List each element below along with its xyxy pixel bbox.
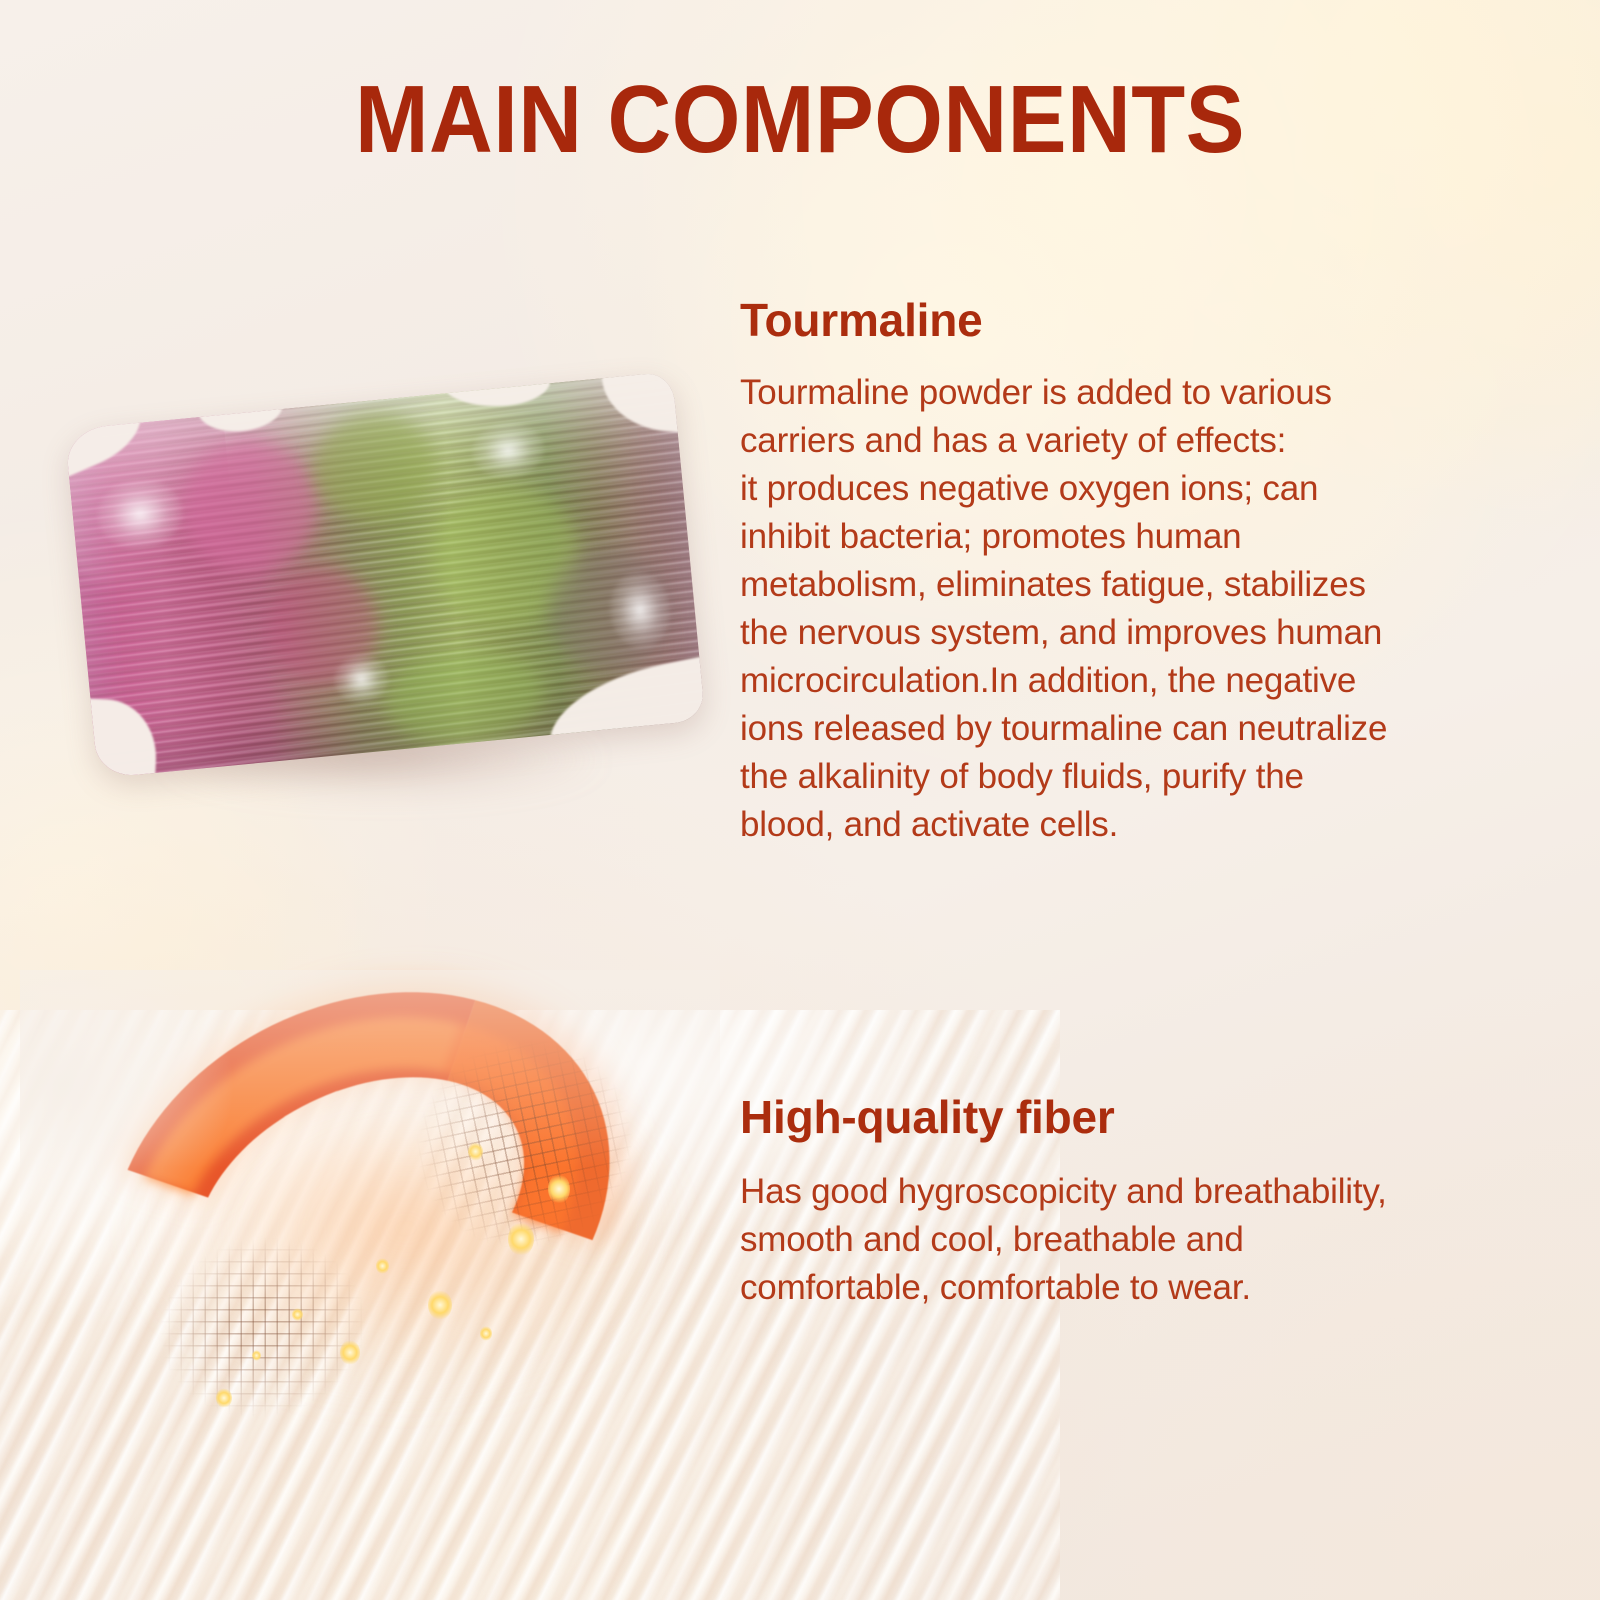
tourmaline-crystal-photo <box>60 370 740 870</box>
page-title: MAIN COMPONENTS <box>64 72 1536 168</box>
crystal-body <box>65 372 706 779</box>
fiber-spark <box>292 1308 303 1321</box>
fiber-spark <box>216 1388 232 1408</box>
fiber-spark <box>252 1350 261 1361</box>
section-tourmaline: Tourmaline Tourmaline powder is added to… <box>740 296 1570 849</box>
section-body-tourmaline: Tourmaline powder is added to various ca… <box>740 369 1570 849</box>
fiber-spark <box>468 1142 483 1161</box>
section-heading-tourmaline: Tourmaline <box>740 296 1570 345</box>
fiber-spark <box>376 1258 389 1274</box>
section-heading-fiber: High-quality fiber <box>740 1093 1570 1142</box>
section-body-fiber: Has good hygroscopicity and breathabilit… <box>740 1168 1570 1312</box>
glowing-fiber-ribbon-photo <box>40 990 700 1470</box>
fiber-spark <box>428 1290 452 1320</box>
fiber-spark <box>340 1340 360 1365</box>
product-infographic: MAIN COMPONENTS Tourmaline Tourmaline po… <box>0 0 1600 1600</box>
fiber-spark <box>508 1222 534 1256</box>
fiber-spark <box>548 1174 570 1204</box>
fiber-spark <box>480 1326 492 1341</box>
section-high-quality-fiber: High-quality fiber Has good hygroscopici… <box>740 1093 1570 1312</box>
